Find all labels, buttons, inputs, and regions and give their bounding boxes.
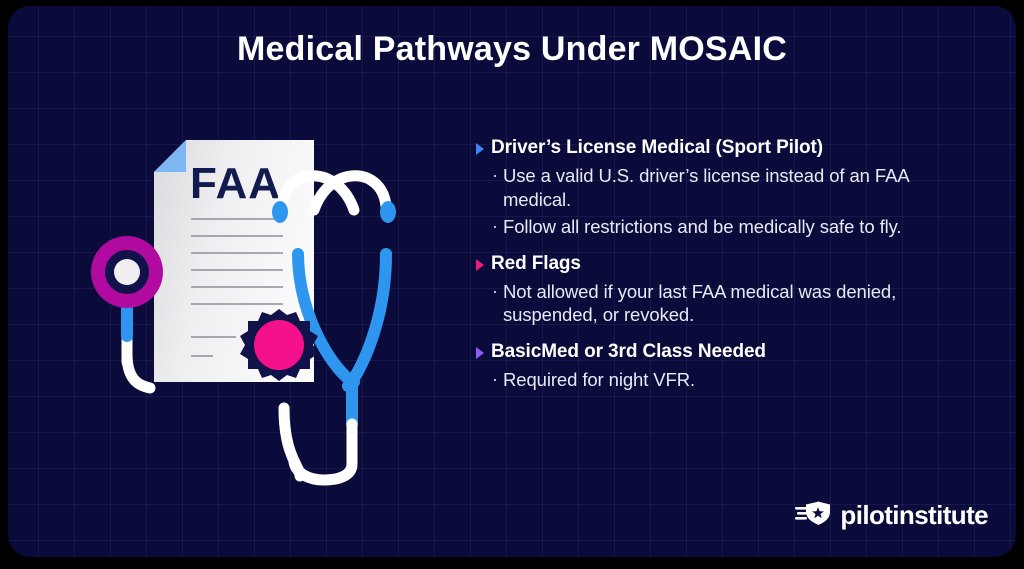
list-item-label: Use a valid U.S. driver’s license instea… xyxy=(503,164,946,211)
dot-bullet-icon: · xyxy=(492,164,498,187)
list-item-label: Required for night VFR. xyxy=(503,368,695,391)
infographic-card: Medical Pathways Under MOSAIC FAA xyxy=(8,6,1016,557)
section-drivers-license-medical: Driver’s License Medical (Sport Pilot) ·… xyxy=(476,137,946,239)
dot-bullet-icon: · xyxy=(492,280,498,303)
section-basicmed-third-class: BasicMed or 3rd Class Needed · Required … xyxy=(476,341,946,392)
section-heading: Red Flags xyxy=(476,253,946,274)
stethoscope-lower-tube xyxy=(294,424,352,480)
dot-bullet-icon: · xyxy=(492,215,498,238)
list-item: · Required for night VFR. xyxy=(492,368,946,391)
page-title: Medical Pathways Under MOSAIC xyxy=(8,30,1016,69)
section-heading-label: Red Flags xyxy=(491,253,581,274)
document-faa-label: FAA xyxy=(190,159,281,208)
medical-pathways-list: Driver’s License Medical (Sport Pilot) ·… xyxy=(476,137,946,392)
brand-wordmark: pilotinstitute xyxy=(840,500,988,531)
winged-shield-star-icon xyxy=(795,500,831,531)
section-heading: Driver’s License Medical (Sport Pilot) xyxy=(476,137,946,158)
faa-medical-illustration: FAA xyxy=(86,124,436,489)
brand-logo: pilotinstitute xyxy=(795,500,988,531)
section-heading-label: Driver’s License Medical (Sport Pilot) xyxy=(491,137,823,158)
triangle-bullet-icon xyxy=(476,143,484,155)
list-item-label: Not allowed if your last FAA medical was… xyxy=(503,280,946,327)
list-item-label: Follow all restrictions and be medically… xyxy=(503,215,901,238)
stethoscope-chestpiece xyxy=(91,236,163,388)
list-item: · Not allowed if your last FAA medical w… xyxy=(492,280,946,327)
illustration-svg: FAA xyxy=(86,124,436,489)
dot-bullet-icon: · xyxy=(492,368,498,391)
section-heading: BasicMed or 3rd Class Needed xyxy=(476,341,946,362)
triangle-bullet-icon xyxy=(476,347,484,359)
section-heading-label: BasicMed or 3rd Class Needed xyxy=(491,341,766,362)
list-item: · Follow all restrictions and be medical… xyxy=(492,215,946,238)
list-item: · Use a valid U.S. driver’s license inst… xyxy=(492,164,946,211)
section-red-flags: Red Flags · Not allowed if your last FAA… xyxy=(476,253,946,327)
triangle-bullet-icon xyxy=(476,259,484,271)
